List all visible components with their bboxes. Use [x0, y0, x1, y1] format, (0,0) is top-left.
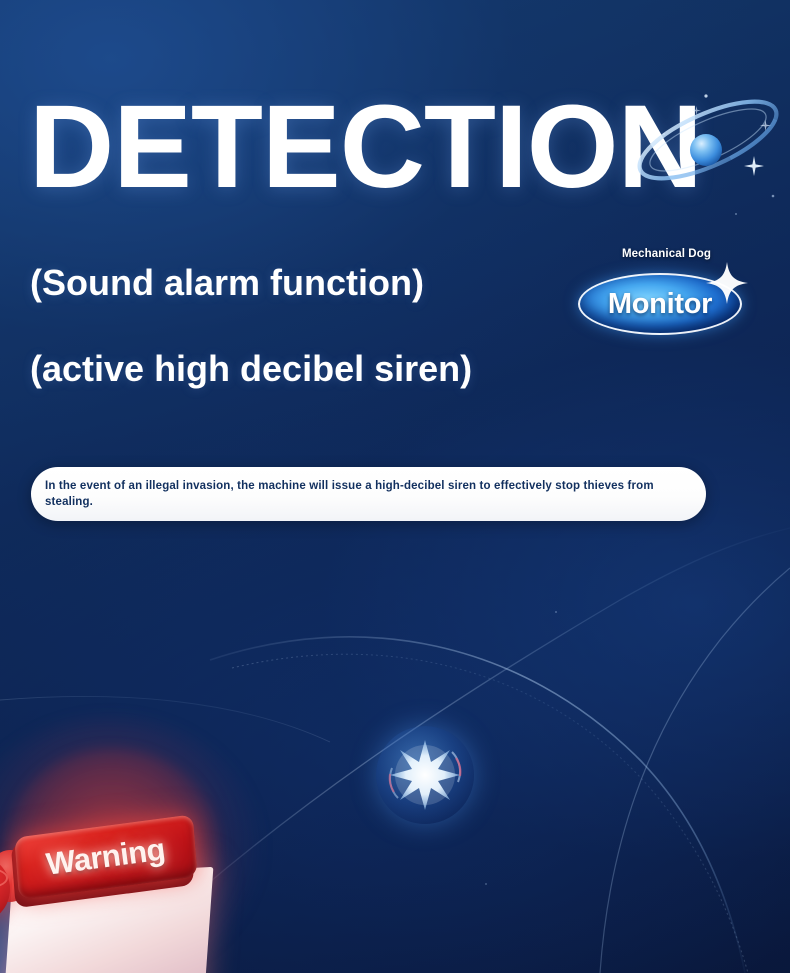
sparkle-star-icon — [744, 156, 764, 176]
description-text: In the event of an illegal invasion, the… — [45, 478, 680, 510]
subtitle-sound-alarm: (Sound alarm function) — [30, 262, 424, 304]
mechanical-dog-monitor-badge: Mechanical Dog Monitor — [576, 248, 744, 340]
subtitle-high-decibel: (active high decibel siren) — [30, 348, 472, 390]
glowing-star-sphere — [368, 718, 482, 832]
warning-label: Warning — [44, 831, 167, 882]
glint-sparkle-icon — [704, 260, 750, 306]
description-callout-pill: In the event of an illegal invasion, the… — [31, 467, 706, 521]
warning-sign-illustration: Warning — [0, 700, 300, 973]
sparkle-star-icon — [760, 120, 771, 131]
detection-promo-banner: DETECTION (Sound alarm fun — [0, 0, 790, 973]
badge-top-label: Mechanical Dog — [622, 248, 742, 261]
page-title: DETECTION — [29, 88, 702, 206]
star-burst-icon — [368, 718, 482, 832]
